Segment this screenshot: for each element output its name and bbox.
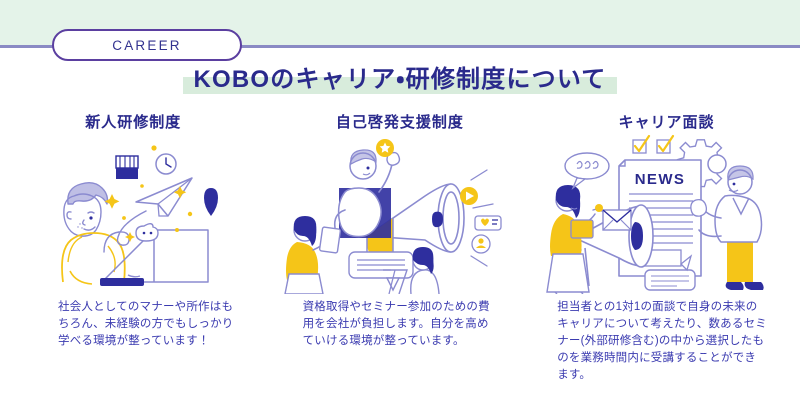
career-column-career-mendan: キャリア面談 NEWS — [533, 112, 800, 402]
illustration-person-at-laptop — [0, 134, 267, 299]
page-title-text: KOBOのキャリア・研修制度について — [193, 64, 606, 96]
page-title: KOBOのキャリア・研修制度について — [0, 60, 800, 100]
news-document-with-people-icon: NEWS — [541, 134, 791, 294]
column-body-text: 担当者との1対1の面談で自身の未来のキャリアについて考えたり、数あるセミナー(外… — [551, 299, 773, 384]
megaphone-with-people-icon — [275, 134, 525, 294]
column-body-text: 社会人としてのマナーや所作はもちろん、未経験の方でもしっかり学べる環境が整ってい… — [52, 299, 244, 350]
illustration-news-with-people: NEWS — [533, 134, 800, 299]
person-at-laptop-icon — [8, 134, 258, 294]
column-body-text: 資格取得やセミナー参加のための費用を会社が負担します。自分を高めていける環境が整… — [297, 299, 504, 350]
illustration-megaphone-with-people — [267, 134, 534, 299]
career-eyebrow-label: CAREER — [112, 38, 181, 53]
news-label: NEWS — [635, 171, 686, 188]
column-title: キャリア面談 — [533, 112, 800, 134]
career-column-jiko-keihatsu: 自己啓発支援制度 — [267, 112, 534, 402]
column-title: 新人研修制度 — [0, 112, 267, 134]
column-title: 自己啓発支援制度 — [267, 112, 534, 134]
career-eyebrow-pill: CAREER — [52, 29, 242, 61]
career-columns: 新人研修制度 — [0, 112, 800, 402]
career-column-shinjin-kenshu: 新人研修制度 — [0, 112, 267, 402]
